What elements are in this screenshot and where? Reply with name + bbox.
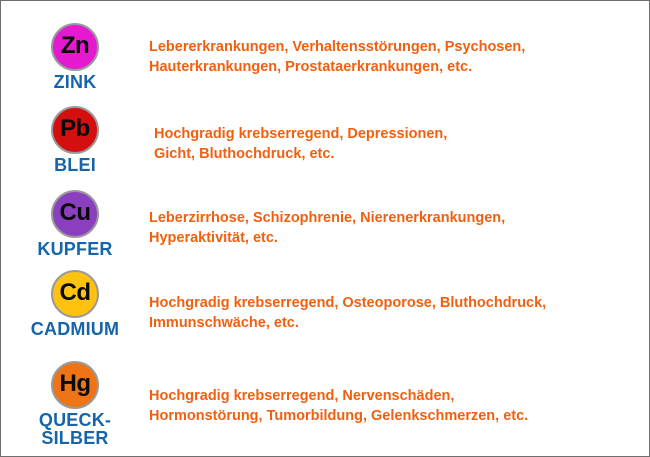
element-name-label: ZINK: [9, 73, 141, 91]
element-name-label: CADMIUM: [9, 320, 141, 338]
metal-badge-column: CdCADMIUM: [9, 270, 141, 338]
metal-badge-column: ZnZINK: [9, 23, 141, 91]
element-disc-icon: Cd: [51, 270, 99, 318]
metal-badge-column: PbBLEI: [9, 106, 141, 174]
element-name-label: KUPFER: [9, 240, 141, 258]
health-effects-text: Hochgradig krebserregend, Depressionen, …: [154, 124, 447, 164]
element-symbol: Cu: [60, 201, 91, 225]
element-disc-icon: Hg: [51, 361, 99, 409]
element-symbol: Pb: [60, 117, 90, 141]
element-disc-icon: Zn: [51, 23, 99, 71]
health-effects-text: Lebererkrankungen, Verhaltensstörungen, …: [149, 37, 525, 77]
metal-badge-column: CuKUPFER: [9, 190, 141, 258]
health-effects-text: Leberzirrhose, Schizophrenie, Nierenerkr…: [149, 208, 505, 248]
element-symbol: Cd: [60, 281, 91, 305]
element-disc-icon: Cu: [51, 190, 99, 238]
metal-badge-column: HgQUECK- SILBER: [9, 361, 141, 447]
element-symbol: Zn: [61, 34, 89, 58]
element-disc-icon: Pb: [51, 106, 99, 154]
health-effects-text: Hochgradig krebserregend, Osteoporose, B…: [149, 293, 546, 333]
element-name-label: QUECK- SILBER: [9, 411, 141, 447]
element-name-label: BLEI: [9, 156, 141, 174]
health-effects-text: Hochgradig krebserregend, Nervenschäden,…: [149, 386, 528, 426]
element-symbol: Hg: [60, 372, 91, 396]
heavy-metals-infographic: ZnZINKLebererkrankungen, Verhaltensstöru…: [0, 0, 650, 457]
